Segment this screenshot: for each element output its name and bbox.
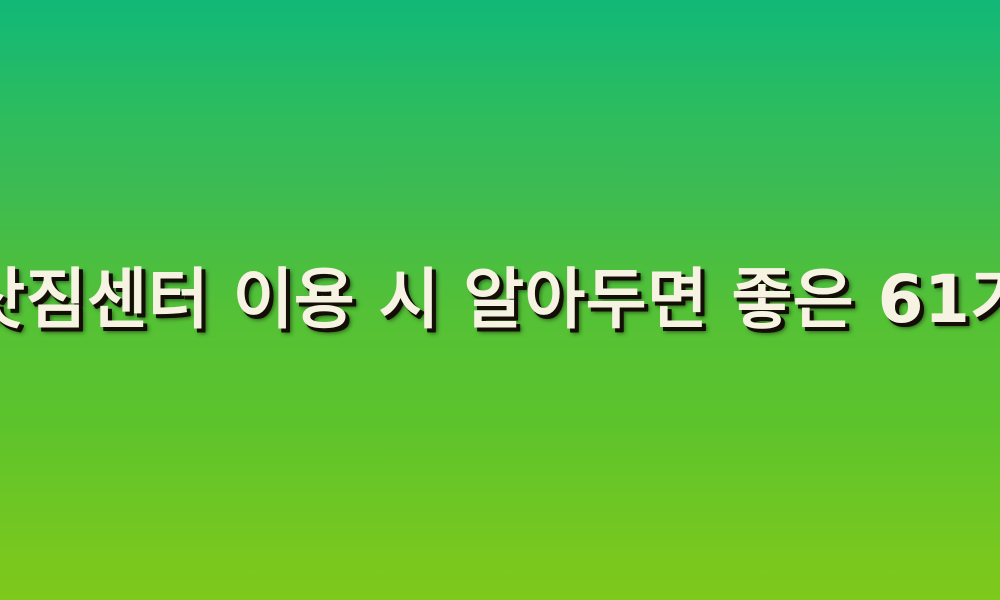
banner-canvas: 이삿짐센터 이용 시 알아두면 좋은 61가지 [0, 0, 1000, 600]
headline-container: 이삿짐센터 이용 시 알아두면 좋은 61가지 [0, 0, 1000, 600]
banner-headline: 이삿짐센터 이용 시 알아두면 좋은 61가지 [0, 267, 1000, 333]
